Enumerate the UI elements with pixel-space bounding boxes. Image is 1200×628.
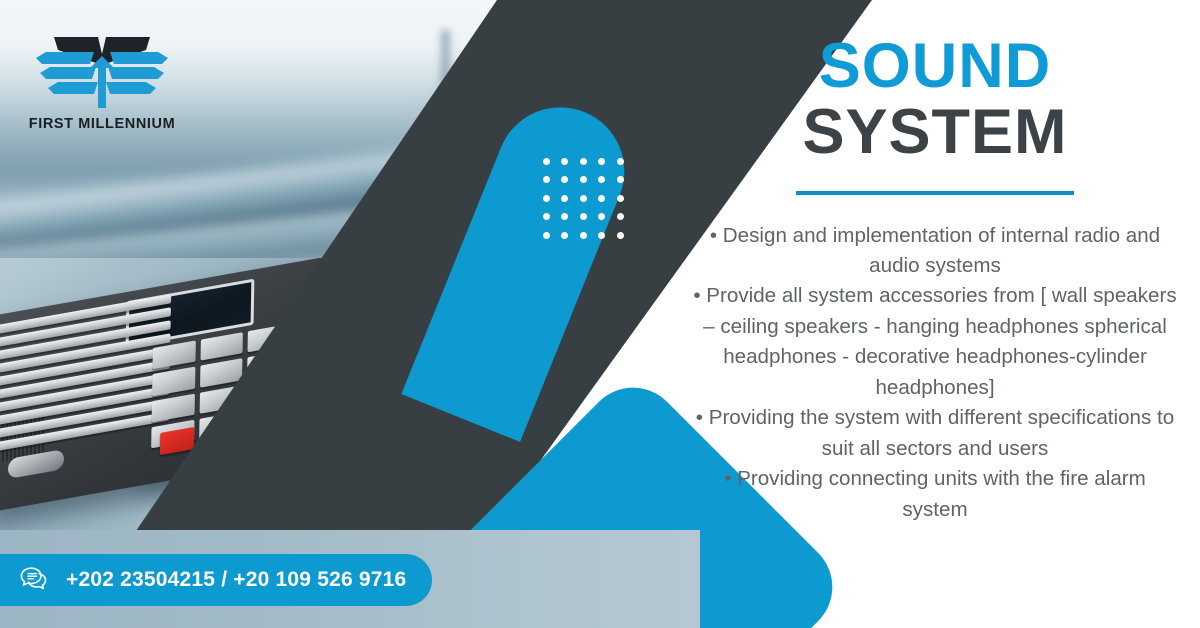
phone-numbers: +202 23504215 / +20 109 526 9716 [66, 568, 406, 592]
company-logo[interactable]: FIRST MILLENNIUM [22, 12, 182, 134]
dot-grid-pattern [543, 158, 635, 250]
content-column: SOUND SYSTEM • Design and implementation… [690, 34, 1180, 525]
logo-wordmark: FIRST MILLENNIUM [22, 116, 182, 132]
title-line-system: SYSTEM [690, 100, 1180, 164]
list-item: • Provide all system accessories from [ … [690, 281, 1180, 403]
chat-bubble-icon [18, 564, 50, 596]
sound-system-banner: +202 23504215 / +20 109 526 9716 FIRST M… [0, 0, 1200, 628]
list-item: • Design and implementation of internal … [690, 221, 1180, 282]
list-item: • Providing connecting units with the fi… [690, 464, 1180, 525]
feature-list: • Design and implementation of internal … [690, 221, 1180, 526]
contact-phone-bar[interactable]: +202 23504215 / +20 109 526 9716 [0, 554, 432, 606]
title-underline [796, 191, 1074, 195]
wing-emblem-icon [22, 12, 182, 122]
list-item: • Providing the system with different sp… [690, 403, 1180, 464]
title-line-sound: SOUND [690, 34, 1180, 98]
page-title: SOUND SYSTEM [690, 34, 1180, 195]
